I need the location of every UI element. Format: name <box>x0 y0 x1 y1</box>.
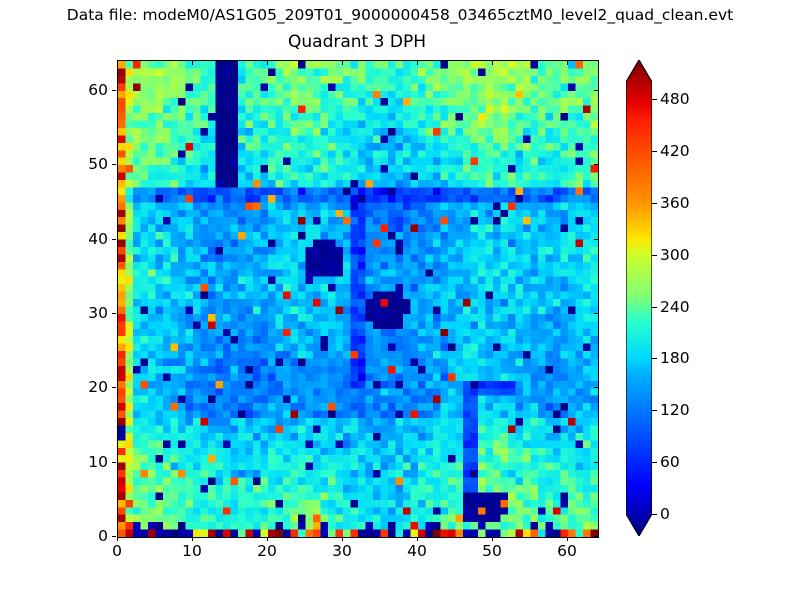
heatmap-axes[interactable] <box>117 60 599 538</box>
colorbar-tick-label: 60 <box>660 453 680 471</box>
x-tick-mark <box>417 537 418 541</box>
colorbar-tick-mark <box>652 203 657 204</box>
x-tick-label: 30 <box>322 542 362 560</box>
x-tick-mark-top <box>567 61 568 65</box>
colorbar-tick-mark <box>652 99 657 100</box>
y-tick-mark-right <box>594 239 598 240</box>
colorbar-tick-mark <box>652 307 657 308</box>
y-tick-mark-right <box>594 387 598 388</box>
colorbar-gradient <box>626 60 652 536</box>
y-tick-mark <box>112 462 116 463</box>
y-tick-mark <box>112 536 116 537</box>
x-tick-mark <box>342 537 343 541</box>
y-tick-mark-right <box>594 90 598 91</box>
colorbar-tick-label: 0 <box>660 505 670 523</box>
x-tick-mark-top <box>417 61 418 65</box>
x-tick-mark-top <box>342 61 343 65</box>
colorbar[interactable] <box>626 60 652 536</box>
x-tick-mark <box>117 537 118 541</box>
chart-title: Quadrant 3 DPH <box>117 32 597 52</box>
colorbar-tick-label: 360 <box>660 194 690 212</box>
y-tick-label: 50 <box>62 155 108 173</box>
y-tick-mark <box>112 239 116 240</box>
colorbar-tick-mark <box>652 514 657 515</box>
y-tick-mark-right <box>594 164 598 165</box>
y-tick-mark <box>112 313 116 314</box>
y-tick-mark-right <box>594 313 598 314</box>
colorbar-tick-label: 120 <box>660 401 690 419</box>
x-tick-label: 20 <box>247 542 287 560</box>
heatmap-image[interactable] <box>118 61 598 537</box>
y-tick-label: 10 <box>62 453 108 471</box>
y-tick-label: 30 <box>62 304 108 322</box>
y-tick-label: 0 <box>62 527 108 545</box>
x-tick-label: 40 <box>397 542 437 560</box>
y-tick-mark <box>112 90 116 91</box>
colorbar-tick-label: 420 <box>660 142 690 160</box>
colorbar-tick-mark <box>652 255 657 256</box>
data-file-suptitle: Data file: modeM0/AS1G05_209T01_90000004… <box>0 6 800 24</box>
colorbar-tick-label: 480 <box>660 90 690 108</box>
y-tick-label: 20 <box>62 378 108 396</box>
x-tick-mark-top <box>192 61 193 65</box>
x-tick-mark <box>492 537 493 541</box>
x-tick-label: 50 <box>472 542 512 560</box>
y-tick-mark <box>112 387 116 388</box>
x-tick-mark-top <box>117 61 118 65</box>
x-tick-label: 60 <box>547 542 587 560</box>
x-tick-mark <box>267 537 268 541</box>
x-tick-mark-top <box>492 61 493 65</box>
y-tick-label: 60 <box>62 81 108 99</box>
y-tick-label: 40 <box>62 230 108 248</box>
colorbar-tick-label: 240 <box>660 298 690 316</box>
colorbar-tick-label: 300 <box>660 246 690 264</box>
y-tick-mark <box>112 164 116 165</box>
x-tick-mark <box>567 537 568 541</box>
x-tick-mark-top <box>267 61 268 65</box>
figure-canvas: Data file: modeM0/AS1G05_209T01_90000004… <box>0 0 800 600</box>
y-tick-mark-right <box>594 462 598 463</box>
x-tick-mark <box>192 537 193 541</box>
y-tick-mark-right <box>594 536 598 537</box>
x-tick-label: 10 <box>172 542 212 560</box>
colorbar-tick-mark <box>652 151 657 152</box>
colorbar-tick-mark <box>652 358 657 359</box>
colorbar-tick-label: 180 <box>660 349 690 367</box>
colorbar-tick-mark <box>652 462 657 463</box>
colorbar-tick-mark <box>652 410 657 411</box>
